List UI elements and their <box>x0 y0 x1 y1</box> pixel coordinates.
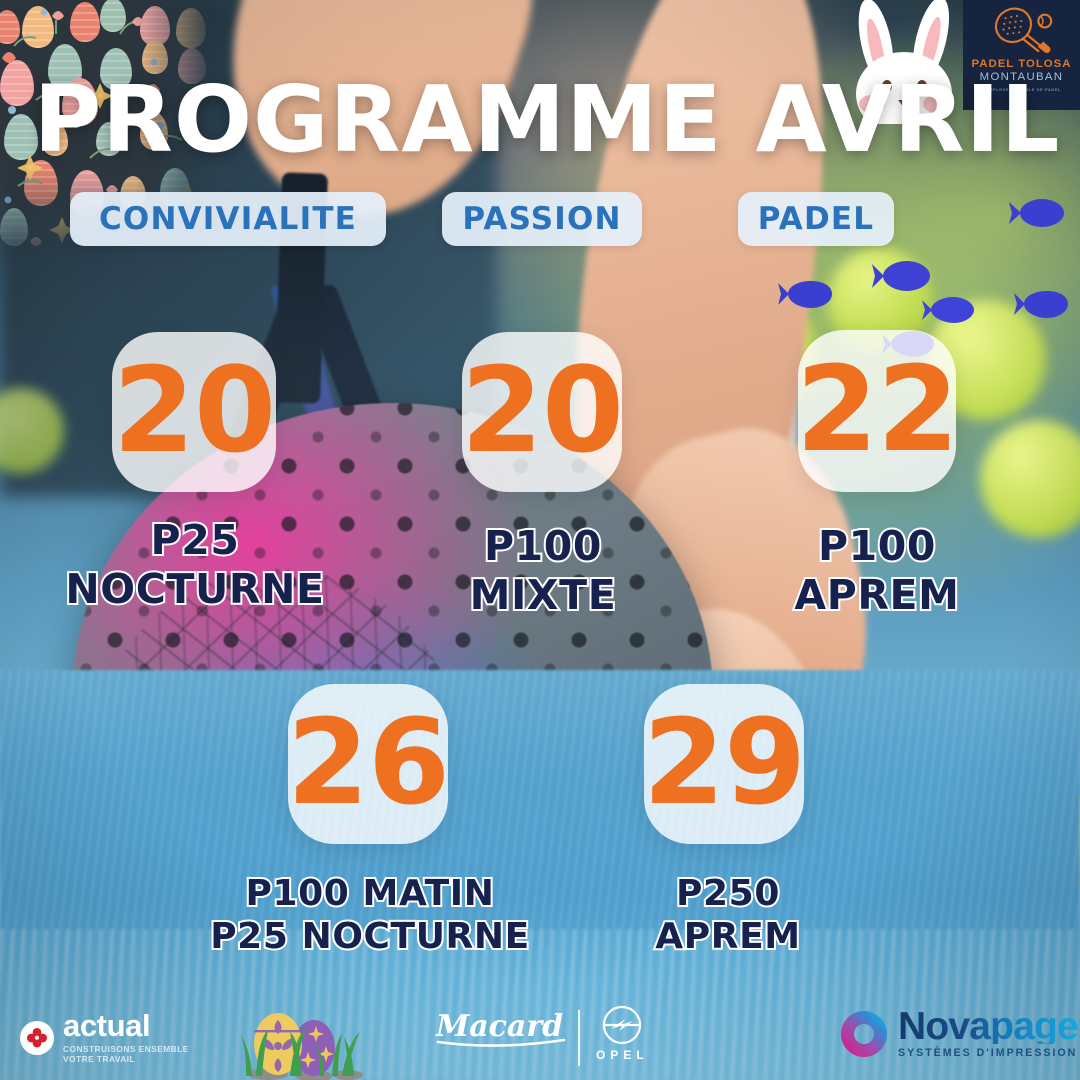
sponsor-footer: actual CONSTRUISONS ENSEMBLEVOTRE TRAVAI… <box>0 992 1080 1080</box>
sponsor-actual-name: actual <box>63 1012 189 1041</box>
easter-eggs-grass-decoration-icon <box>228 1002 376 1080</box>
event-label: P100 MATINP25 NOCTURNE <box>200 872 540 958</box>
event-card-day[interactable]: 22 <box>798 330 956 492</box>
fish-icon <box>872 258 934 294</box>
tagline-pill-passion[interactable]: PASSION <box>442 192 642 246</box>
event-card-day[interactable]: 20 <box>112 332 276 492</box>
sponsor-actual-tagline: CONSTRUISONS ENSEMBLEVOTRE TRAVAIL <box>63 1044 189 1064</box>
sponsor-macard-name: Macard <box>435 1009 563 1044</box>
event-day-number: 26 <box>287 703 449 821</box>
event-label: P250APREM <box>608 872 848 958</box>
sponsor-novapage[interactable]: Novapage SYSTÈMES D'IMPRESSION <box>838 1008 1078 1060</box>
sponsor-novapage-name: Novapage <box>898 1009 1078 1044</box>
sponsor-opel-name: OPEL <box>596 1048 649 1062</box>
fish-icon <box>1014 288 1072 321</box>
event-day-number: 22 <box>796 350 958 468</box>
fish-icon <box>778 278 836 311</box>
poster-root: PADEL TOLOSA MONTAUBAN COMPLEXE ET ÉCOLE… <box>0 0 1080 1080</box>
clover-icon <box>20 1021 54 1055</box>
novapage-ring-icon <box>838 1008 890 1060</box>
event-day-number: 29 <box>643 703 805 821</box>
sponsor-actual[interactable]: actual CONSTRUISONS ENSEMBLEVOTRE TRAVAI… <box>20 1012 189 1064</box>
sponsor-opel[interactable]: OPEL <box>596 1004 649 1062</box>
opel-blitz-icon <box>601 1004 643 1046</box>
event-day-number: 20 <box>113 351 275 469</box>
event-label: P100APREM <box>752 522 1002 620</box>
event-label: P25NOCTURNE <box>30 516 360 614</box>
tagline-pill-convivialite[interactable]: CONVIVIALITE <box>70 192 386 246</box>
event-card-day[interactable]: 29 <box>644 684 804 844</box>
fish-icon <box>922 294 978 326</box>
event-label: P100MIXTE <box>412 522 674 620</box>
event-card-day[interactable]: 20 <box>462 332 622 492</box>
event-card-day[interactable]: 26 <box>288 684 448 844</box>
padel-racket-ball-icon <box>985 6 1059 56</box>
tagline-pill-padel[interactable]: PADEL <box>738 192 894 246</box>
sponsor-macard[interactable]: Macard <box>434 1006 570 1055</box>
page-title: PROGRAMME AVRIL <box>0 74 1080 166</box>
sponsor-novapage-tagline: SYSTÈMES D'IMPRESSION <box>898 1047 1078 1059</box>
tagline-pill-group: CONVIVIALITE PASSION PADEL <box>0 192 1080 248</box>
footer-divider <box>578 1010 580 1066</box>
event-day-number: 20 <box>461 351 623 469</box>
